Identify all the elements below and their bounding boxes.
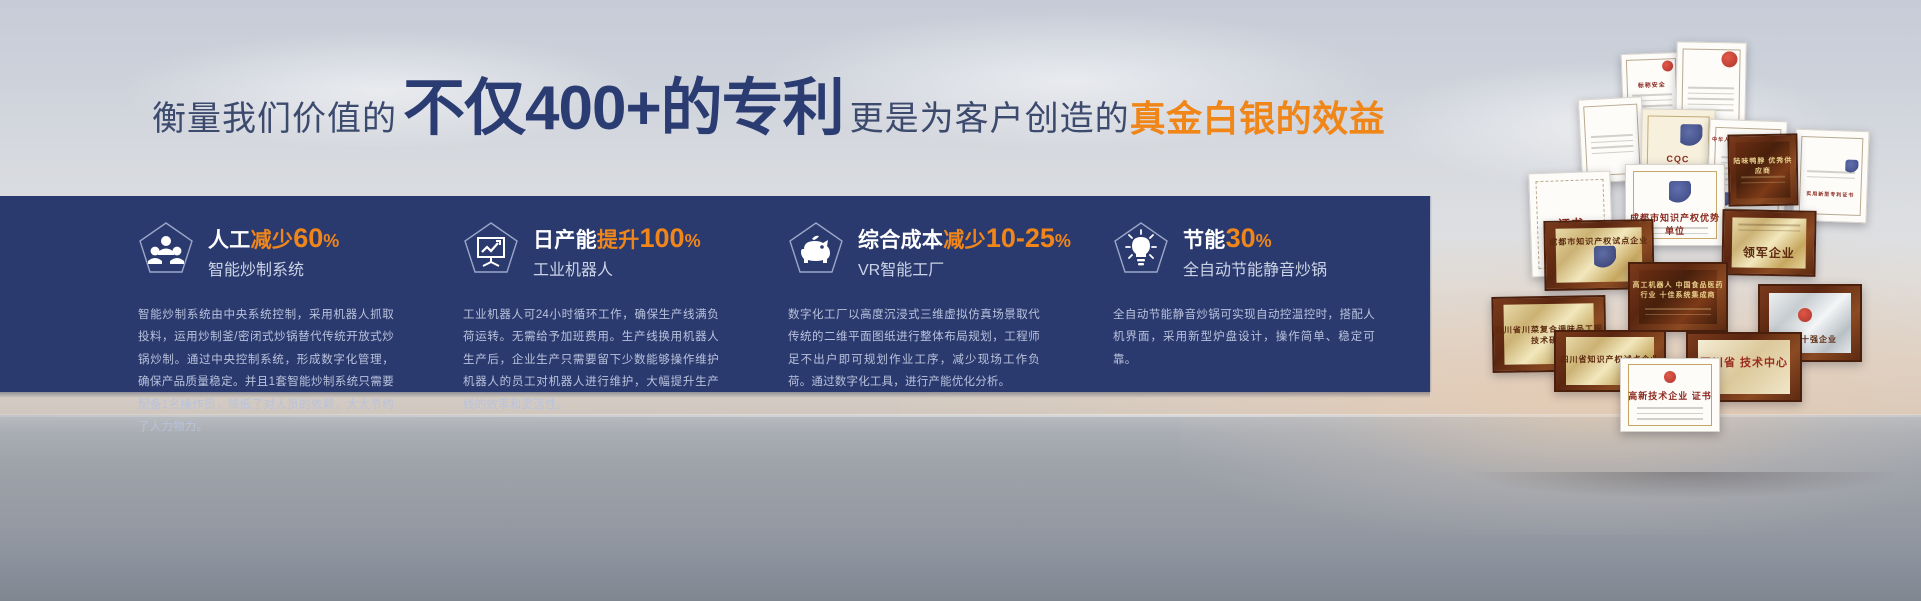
feature-title-prefix: 人工 xyxy=(208,229,251,252)
feature-text: 节能30% 全自动节能静音炒锅 xyxy=(1183,221,1327,280)
certificate-label: 高新技术企业 证书 xyxy=(1621,389,1719,402)
headline-lead: 衡量我们价值的 xyxy=(152,102,397,140)
headline-accent: 真金白银的效益 xyxy=(1130,101,1386,140)
feature-header: 人工减少60% 智能炒制系统 xyxy=(138,220,441,282)
feature-title-highlight: 提升 xyxy=(597,229,640,252)
headline-emphasis: 不仅400+的专利 xyxy=(397,78,850,140)
feature-subtitle: 全自动节能静音炒锅 xyxy=(1183,261,1327,280)
feature-title-number: 30 xyxy=(1226,223,1256,253)
certificate-label: CQC xyxy=(1642,153,1714,164)
feature-title-highlight: 减少 xyxy=(943,229,986,252)
feature-title-number: 10-25 xyxy=(986,223,1055,253)
feature-header: 日产能提升100% 工业机器人 xyxy=(463,220,766,282)
feature-description: 智能炒制系统由中央系统控制，采用机器人抓取投料，运用炒制釜/密闭式炒锅替代传统开… xyxy=(138,304,394,439)
features-list: 人工减少60% 智能炒制系统 智能炒制系统由中央系统控制，采用机器人抓取投料，运… xyxy=(0,196,1430,436)
certificate-item: 高新技术企业 证书 xyxy=(1620,358,1720,432)
certificate-label: 领军企业 xyxy=(1724,243,1814,262)
piggy-bank-icon xyxy=(788,221,844,281)
feature-title-prefix: 日产能 xyxy=(533,229,597,252)
chart-presentation-icon xyxy=(463,221,519,281)
feature-title-unit: % xyxy=(1256,231,1272,251)
feature-title: 日产能提升100% xyxy=(533,223,701,254)
feature-item-labor[interactable]: 人工减少60% 智能炒制系统 智能炒制系统由中央系统控制，采用机器人抓取投料，运… xyxy=(138,220,463,436)
feature-title: 综合成本减少10-25% xyxy=(858,223,1071,254)
feature-item-capacity[interactable]: 日产能提升100% 工业机器人 工业机器人可24小时循环工作，确保生产线满负荷运… xyxy=(463,220,788,436)
certificate-item: 陆味鸭脖 优秀供应商 xyxy=(1727,133,1798,206)
feature-title-unit: % xyxy=(323,231,339,251)
feature-subtitle: 智能炒制系统 xyxy=(208,261,340,280)
feature-title: 节能30% xyxy=(1183,223,1327,254)
certificate-item: 领军企业 xyxy=(1721,209,1816,277)
feature-subtitle: VR智能工厂 xyxy=(858,261,1071,280)
certificate-item: 高工机器人 中国食品医药行业 十佳系统集成商 xyxy=(1628,262,1728,332)
feature-title-prefix: 节能 xyxy=(1183,229,1226,252)
feature-description: 工业机器人可24小时循环工作，确保生产线满负荷运转。无需给予加班费用。生产线换用… xyxy=(463,304,719,416)
page-title: 衡量我们价值的 不仅400+的专利 更是为客户创造的 真金白银的效益 xyxy=(152,78,1385,140)
feature-text: 综合成本减少10-25% VR智能工厂 xyxy=(858,221,1071,280)
feature-title-unit: % xyxy=(685,231,701,251)
feature-description: 全自动节能静音炒锅可实现自动控温控时，搭配人机界面，采用新型炉盘设计，操作简单、… xyxy=(1113,304,1375,371)
certificate-label: 陆味鸭脖 优秀供应商 xyxy=(1730,155,1796,176)
feature-header: 综合成本减少10-25% VR智能工厂 xyxy=(788,220,1091,282)
banner-stage: 衡量我们价值的 不仅400+的专利 更是为客户创造的 真金白银的效益 xyxy=(0,0,1921,601)
feature-text: 日产能提升100% 工业机器人 xyxy=(533,221,701,280)
feature-title-number: 60 xyxy=(293,223,323,253)
certificate-wall-shadow xyxy=(1470,472,1900,498)
feature-title-number: 100 xyxy=(640,223,685,253)
headline-middle: 更是为客户创造的 xyxy=(850,102,1130,140)
feature-item-cost[interactable]: 综合成本减少10-25% VR智能工厂 数字化工厂以高度沉浸式三维虚拟仿真场景取… xyxy=(788,220,1113,436)
feature-item-energy[interactable]: 节能30% 全自动节能静音炒锅 全自动节能静音炒锅可实现自动控温控时，搭配人机界… xyxy=(1113,220,1413,436)
certificate-label: 高工机器人 中国食品医药行业 十佳系统集成商 xyxy=(1630,280,1726,300)
people-group-icon xyxy=(138,221,194,281)
feature-description: 数字化工厂以高度沉浸式三维虚拟仿真场景取代传统的二维平面图纸进行整体布局规划，工… xyxy=(788,304,1040,394)
feature-title-unit: % xyxy=(1055,231,1071,251)
feature-header: 节能30% 全自动节能静音炒锅 xyxy=(1113,220,1391,282)
certificate-label: 成都市知识产权试点企业 xyxy=(1546,235,1652,248)
feature-text: 人工减少60% 智能炒制系统 xyxy=(208,221,340,280)
lightbulb-icon xyxy=(1113,221,1169,281)
feature-subtitle: 工业机器人 xyxy=(533,261,701,280)
feature-title-highlight: 减少 xyxy=(251,229,294,252)
feature-title-prefix: 综合成本 xyxy=(858,229,943,252)
feature-title: 人工减少60% xyxy=(208,223,340,254)
certificate-wall: 标称安全 CQC 中华人民共和国工业产品生产许可证 证书 xyxy=(1440,40,1921,510)
certificate-item: 实用新型专利证书 xyxy=(1792,129,1869,224)
